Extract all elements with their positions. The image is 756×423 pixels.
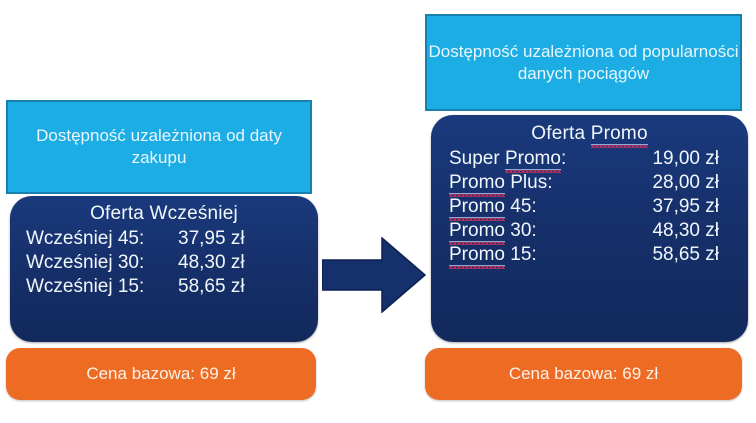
right-offer-title-prefix: Oferta bbox=[531, 123, 590, 144]
left-row-price: 58,65 zł bbox=[178, 276, 288, 298]
right-base-price-box: Cena bazowa: 69 zł bbox=[425, 348, 742, 400]
right-offer-title-brand: Promo bbox=[591, 123, 648, 145]
right-row-price: 48,30 zł bbox=[609, 220, 737, 242]
table-row: Super Promo: 19,00 zł bbox=[431, 147, 748, 171]
right-offer-card: Oferta Promo Super Promo: 19,00 zł Promo… bbox=[431, 115, 748, 342]
right-row-price: 58,65 zł bbox=[609, 244, 737, 266]
arrow-right-icon bbox=[322, 237, 426, 313]
right-row-label-suffix: 15: bbox=[505, 244, 537, 265]
right-row-price: 19,00 zł bbox=[609, 148, 737, 170]
left-offer-card: Oferta Wcześniej Wcześniej 45: 37,95 zł … bbox=[10, 196, 318, 342]
right-availability-note: Dostępność uzależniona od popularności d… bbox=[425, 14, 742, 111]
right-row-label: Promo Plus: bbox=[449, 172, 609, 194]
right-availability-note-text: Dostępność uzależniona od popularności d… bbox=[427, 41, 740, 85]
left-base-price-text: Cena bazowa: 69 zł bbox=[86, 364, 235, 384]
right-row-price: 28,00 zł bbox=[609, 172, 737, 194]
right-row-label: Promo 15: bbox=[449, 244, 609, 266]
right-row-label-suffix: : bbox=[561, 148, 566, 169]
right-offer-rows: Super Promo: 19,00 zł Promo Plus: 28,00 … bbox=[431, 145, 748, 267]
right-row-label-suffix: Plus: bbox=[505, 172, 553, 193]
table-row: Promo 45: 37,95 zł bbox=[431, 195, 748, 219]
table-row: Promo 30: 48,30 zł bbox=[431, 219, 748, 243]
right-row-label: Promo 30: bbox=[449, 220, 609, 242]
left-row-price: 37,95 zł bbox=[178, 228, 288, 250]
left-row-price: 48,30 zł bbox=[178, 252, 288, 274]
right-row-label-brand: Promo bbox=[505, 148, 561, 170]
right-row-label-brand: Promo bbox=[449, 220, 505, 242]
right-row-label-plain: Super bbox=[449, 148, 505, 169]
right-offer-title: Oferta Promo bbox=[431, 115, 748, 145]
table-row: Wcześniej 30: 48,30 zł bbox=[10, 251, 318, 275]
right-base-price-text: Cena bazowa: 69 zł bbox=[509, 364, 658, 384]
table-row: Wcześniej 45: 37,95 zł bbox=[10, 227, 318, 251]
right-row-label-brand: Promo bbox=[449, 172, 505, 194]
left-row-label: Wcześniej 30: bbox=[26, 252, 178, 274]
diagram-canvas: Dostępność uzależniona od daty zakupu Of… bbox=[0, 0, 756, 423]
left-row-label: Wcześniej 15: bbox=[26, 276, 178, 298]
table-row: Promo 15: 58,65 zł bbox=[431, 243, 748, 267]
right-row-price: 37,95 zł bbox=[609, 196, 737, 218]
table-row: Wcześniej 15: 58,65 zł bbox=[10, 275, 318, 299]
right-row-label-brand: Promo bbox=[449, 196, 505, 218]
table-row: Promo Plus: 28,00 zł bbox=[431, 171, 748, 195]
right-row-label-brand: Promo bbox=[449, 244, 505, 266]
right-row-label-suffix: 30: bbox=[505, 220, 537, 241]
right-row-label: Super Promo: bbox=[449, 148, 609, 170]
left-row-label: Wcześniej 45: bbox=[26, 228, 178, 250]
left-availability-note: Dostępność uzależniona od daty zakupu bbox=[6, 100, 312, 194]
right-row-label: Promo 45: bbox=[449, 196, 609, 218]
right-row-label-suffix: 45: bbox=[505, 196, 537, 217]
left-offer-rows: Wcześniej 45: 37,95 zł Wcześniej 30: 48,… bbox=[10, 225, 318, 299]
left-availability-note-text: Dostępność uzależniona od daty zakupu bbox=[8, 125, 310, 169]
left-offer-title: Oferta Wcześniej bbox=[10, 196, 318, 225]
left-base-price-box: Cena bazowa: 69 zł bbox=[6, 348, 316, 400]
